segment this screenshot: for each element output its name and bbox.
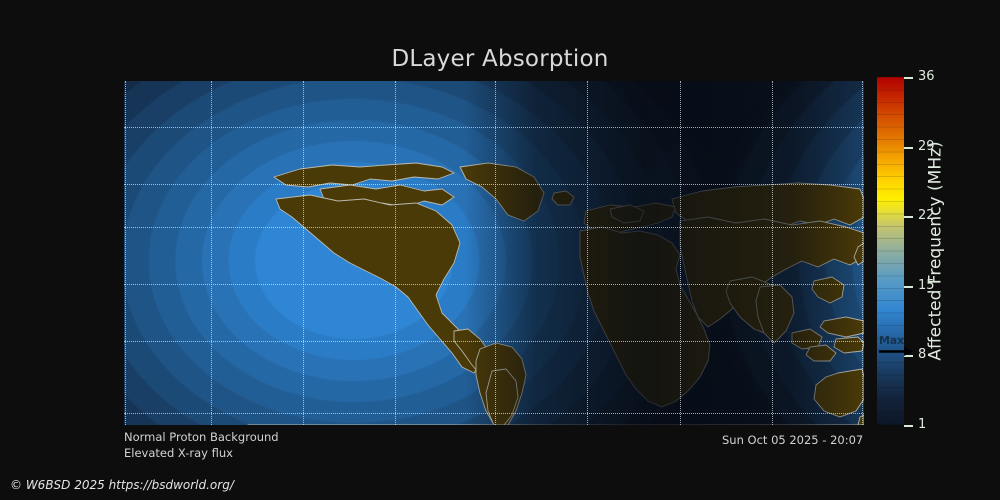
colorbar-tick (904, 147, 913, 149)
colorbar-tick (904, 425, 913, 427)
credit-line: © W6BSD 2025 https://bsdworld.org/ (10, 478, 234, 492)
colorbar-axis-title-text: Affected Frequency (MHz) (926, 141, 946, 360)
page-title: DLayer Absorption (0, 46, 1000, 72)
colorbar-gradient (877, 77, 904, 425)
timestamp: Sun Oct 05 2025 - 20:07 (722, 433, 863, 447)
continents-layer (124, 81, 864, 425)
colorbar-axis-title: Affected Frequency (MHz) (926, 77, 946, 425)
colorbar-tick (904, 77, 913, 79)
dlayer-absorption-map-page: DLayer Absorption (0, 0, 1000, 500)
world-map[interactable] (124, 81, 864, 425)
max-marker-label: Max (879, 334, 904, 347)
status-block: Normal Proton Background Elevated X-ray … (124, 429, 279, 461)
colorbar-tick (904, 216, 913, 218)
status-xray-flux: Elevated X-ray flux (124, 445, 279, 461)
arrow-right-icon (879, 347, 913, 356)
status-proton-background: Normal Proton Background (124, 429, 279, 445)
colorbar-tick (904, 286, 913, 288)
max-absorption-marker: Max (879, 334, 919, 360)
colorbar[interactable]: 36 29 22 15 8 1 (877, 77, 904, 425)
